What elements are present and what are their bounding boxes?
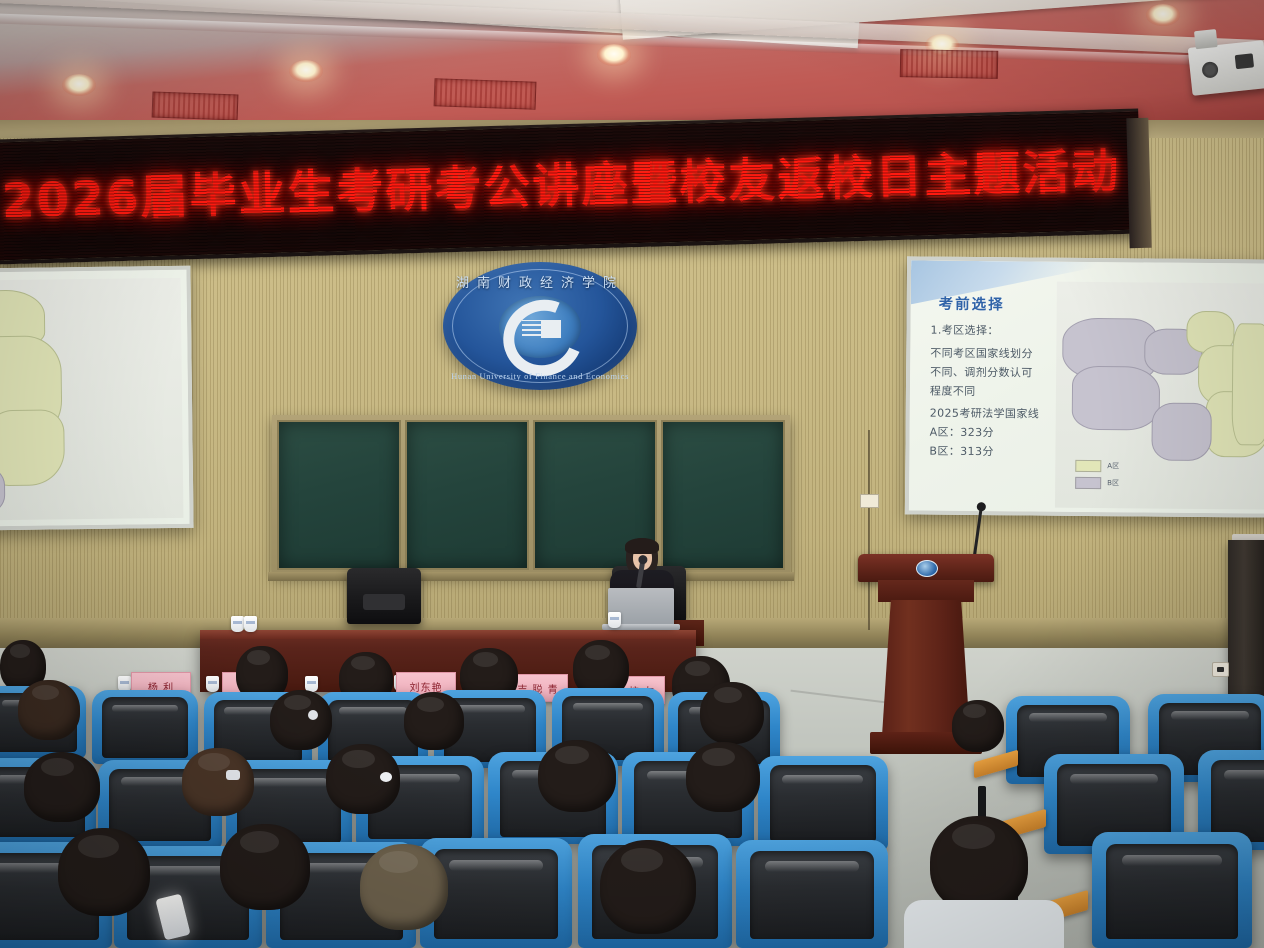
slide-line: 不同、调剂分数认可 (930, 363, 1065, 383)
paper-cup (244, 616, 257, 632)
slide-right: 考前选择 1.考区选择： 不同考区国家线划分 不同、调剂分数认可 程度不同 20… (909, 260, 1264, 513)
emblem-chinese-name: 湖南财政经济学院 (443, 272, 637, 291)
person-head (952, 700, 1004, 752)
chalkboard-panel (277, 420, 401, 570)
ceiling-downlight (289, 60, 323, 82)
wall-outlet (1212, 662, 1229, 677)
projector-lens-icon (1201, 61, 1219, 79)
person-head (404, 692, 464, 750)
slide-line: 程度不同 (930, 382, 1065, 402)
legend-swatch-b (1075, 477, 1101, 489)
person-head (270, 690, 332, 750)
chalkboard (272, 415, 790, 575)
seat-back (102, 697, 189, 758)
person-head (930, 816, 1028, 912)
university-emblem: 湖南财政经济学院 Hunan University of Finance and… (443, 262, 637, 390)
auditorium-seat[interactable] (758, 756, 888, 850)
map-region-a (1231, 323, 1264, 445)
paper-cup (206, 676, 219, 692)
slide-line-zone-b: B区：313分 (929, 442, 1064, 462)
map-region-b (1072, 366, 1161, 431)
ceiling-downlight (62, 74, 96, 96)
ceiling-downlight (597, 44, 631, 66)
auditorium-seat[interactable] (736, 840, 888, 948)
slide-line-zone-a: A区：323分 (930, 423, 1065, 443)
paper-cup (231, 616, 244, 632)
person-head (24, 752, 100, 822)
china-map-regions (0, 278, 183, 522)
projection-screen-right: 考前选择 1.考区选择： 不同考区国家线划分 不同、调剂分数认可 程度不同 20… (905, 256, 1264, 517)
person-head (182, 748, 254, 816)
auditorium-seat-empty[interactable] (1092, 832, 1252, 948)
ceiling-vent (152, 92, 239, 121)
slide-line: 1.考区选择： (930, 321, 1065, 341)
person-head (360, 844, 448, 930)
lectern-top (858, 554, 994, 582)
seat-back (1211, 760, 1264, 842)
map-region-b (1151, 403, 1212, 462)
china-map-right: A区 B区 (1055, 282, 1264, 510)
led-banner-frame-right (1126, 118, 1151, 249)
legend-label-a: A区 (1107, 461, 1119, 471)
projection-screen-left: 考研 AB区 (0, 266, 194, 532)
legend-label-b: B区 (1107, 478, 1119, 488)
ceiling-downlight (1146, 4, 1180, 26)
person-head (600, 840, 696, 934)
map-region-a (0, 409, 65, 486)
person-head (18, 680, 80, 740)
map-legend: A区 B区 (1075, 460, 1119, 494)
led-banner-text: 2026届毕业生考研考公讲座暨校友返校日主题活动 (0, 131, 1141, 232)
speaker-fringe (625, 538, 659, 554)
slide-title: 考前选择 (939, 293, 1005, 315)
person-head (700, 682, 764, 744)
seat-back (434, 849, 559, 939)
paper-cup (608, 612, 621, 628)
seat-back (1106, 844, 1237, 939)
lecture-hall-photo: 2026届毕业生考研考公讲座暨校友返校日主题活动 湖南财政经济学院 Hunan … (0, 0, 1264, 948)
slide-left: 考研 AB区 (0, 270, 190, 528)
emblem-square-icon (541, 320, 561, 338)
person-head (220, 824, 310, 910)
eyeglasses-icon (308, 710, 318, 720)
person-shoulders (904, 900, 1064, 948)
seat-back (770, 765, 877, 842)
ceiling-vent (434, 78, 537, 110)
lectern-emblem-icon (916, 560, 938, 577)
person-head (58, 828, 150, 916)
person-head (538, 740, 616, 812)
slide-body: 1.考区选择： 不同考区国家线划分 不同、调剂分数认可 程度不同 2025考研法… (929, 321, 1065, 462)
slide-line: 不同考区国家线划分 (930, 344, 1065, 364)
earbud-icon (380, 772, 392, 782)
legend-swatch-a (1075, 460, 1101, 472)
legend-item-a: A区 (1075, 460, 1119, 472)
auditorium-seat[interactable] (92, 690, 198, 764)
legend-item-b: B区 (1075, 477, 1119, 489)
projector (1188, 40, 1264, 96)
seat-back (750, 851, 875, 940)
person-head (686, 742, 760, 812)
stage-chair (347, 568, 421, 624)
hair-clip-icon (226, 770, 240, 780)
wall-junction-box (860, 494, 879, 508)
china-map-left (0, 278, 183, 522)
emblem-english-name: Hunan University of Finance and Economic… (443, 371, 637, 381)
ceiling-vent (900, 49, 998, 79)
slide-line: 2025考研法学国家线 (930, 404, 1065, 424)
lectern-neck (878, 580, 974, 602)
chalkboard-panel (405, 420, 529, 570)
